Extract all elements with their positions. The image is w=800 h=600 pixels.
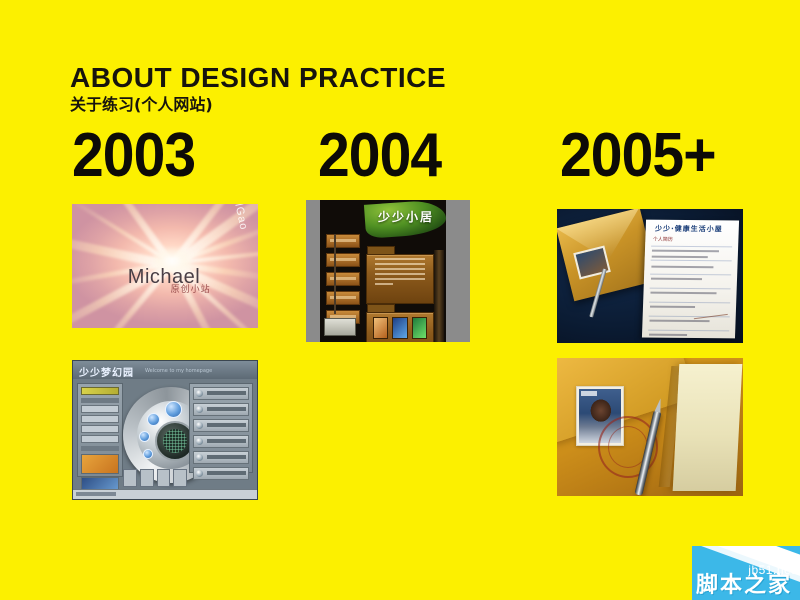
app-statusbar: [73, 489, 257, 499]
panel-label: [81, 446, 119, 451]
menu-item: [193, 387, 249, 400]
panel-row: [81, 405, 119, 413]
decorative-scroll: [434, 250, 444, 342]
nav-button: [326, 253, 360, 267]
menu-item-label: [207, 407, 246, 411]
app-left-panel: [77, 383, 123, 477]
letter-paper: 少少·健康生活小屋 个人简历: [642, 219, 739, 338]
text-line: [375, 258, 425, 260]
decorative-cable: [334, 234, 336, 314]
menu-item-label: [207, 471, 246, 475]
menu-item: [193, 403, 249, 416]
app-artwork: 少少梦幻园 Welcome to my homepage: [72, 360, 258, 500]
thumbnail-2003-app[interactable]: 少少梦幻园 Welcome to my homepage: [72, 360, 258, 500]
content-panel: [366, 312, 434, 342]
letter-artwork: 少少·健康生活小屋 个人简历: [557, 209, 743, 343]
page-heading: ABOUT DESIGN PRACTICE 关于练习(个人网站): [70, 62, 446, 115]
watermark: jb51.net 脚本之家: [692, 546, 800, 600]
gallery-tile: [392, 317, 407, 339]
toolbar-button: [140, 469, 154, 487]
app-title-text: 少少梦幻园: [79, 364, 134, 379]
thumbnail-2005-envelope[interactable]: [557, 358, 743, 496]
gallery-tiles: [367, 313, 433, 342]
site-nav-strip: [326, 234, 360, 320]
menu-item-label: [207, 391, 246, 395]
preview-thumb: [81, 454, 119, 474]
dial-knob-icon: [147, 413, 160, 426]
thumbnail-2003-splash[interactable]: Michael 原创小站 MichaelGao: [72, 204, 258, 328]
toolbar-button: [157, 469, 171, 487]
menu-item: [193, 451, 249, 464]
dial-knob-icon: [143, 449, 153, 459]
envelope-artwork: [557, 358, 743, 496]
menu-item-label: [207, 423, 246, 427]
site-page-body: 少少小居: [320, 200, 446, 342]
panel-label: [81, 398, 119, 403]
toolbar-button: [173, 469, 187, 487]
year-label-2003: 2003: [72, 125, 195, 187]
gallery-tile: [373, 317, 388, 339]
thumbnail-2005-letter[interactable]: 少少·健康生活小屋 个人简历: [557, 209, 743, 343]
gallery-tile: [412, 317, 427, 339]
panel-header: [367, 246, 395, 255]
text-line: [375, 283, 393, 285]
site-title-text: 少少小居: [378, 208, 434, 225]
text-line: [375, 278, 425, 280]
watermark-name: 脚本之家: [696, 567, 792, 599]
nav-button: [326, 234, 360, 248]
site-badge: [324, 318, 356, 336]
dial-knob-icon: [165, 401, 182, 418]
panel-row: [81, 425, 119, 433]
text-line: [375, 273, 425, 275]
page-subtitle: 关于练习(个人网站): [70, 95, 446, 115]
letter-paper: [673, 364, 743, 491]
app-bottom-toolbar: [123, 469, 187, 487]
signature-mark: [692, 297, 728, 318]
menu-item-label: [207, 455, 246, 459]
menu-item: [193, 419, 249, 432]
year-label-2004: 2004: [318, 125, 441, 187]
progress-bar: [81, 387, 119, 395]
nav-button: [326, 272, 360, 286]
toolbar-button: [123, 469, 137, 487]
text-line: [375, 268, 425, 270]
thumbnail-2004-site[interactable]: 少少小居: [306, 200, 470, 342]
splash-brand-subtitle: 原创小站: [171, 282, 211, 295]
content-panel: [366, 254, 434, 304]
app-right-panel: [189, 383, 253, 473]
menu-item: [193, 435, 249, 448]
panel-row: [81, 415, 119, 423]
splash-artwork: Michael 原创小站 MichaelGao: [72, 204, 258, 328]
letter-subtitle-text: 个人简历: [653, 235, 673, 242]
app-subtitle-text: Welcome to my homepage: [145, 368, 212, 374]
page-title: ABOUT DESIGN PRACTICE: [70, 62, 446, 94]
letter-title-text: 少少·健康生活小屋: [655, 223, 733, 234]
nav-button: [326, 291, 360, 305]
panel-row: [81, 435, 119, 443]
panel-header: [367, 304, 395, 313]
site-artwork: 少少小居: [306, 200, 470, 342]
dial-knob-icon: [139, 431, 150, 442]
menu-item-label: [207, 439, 246, 443]
text-line: [375, 263, 425, 265]
menu-item: [193, 467, 249, 480]
year-label-2005: 2005+: [560, 125, 716, 187]
